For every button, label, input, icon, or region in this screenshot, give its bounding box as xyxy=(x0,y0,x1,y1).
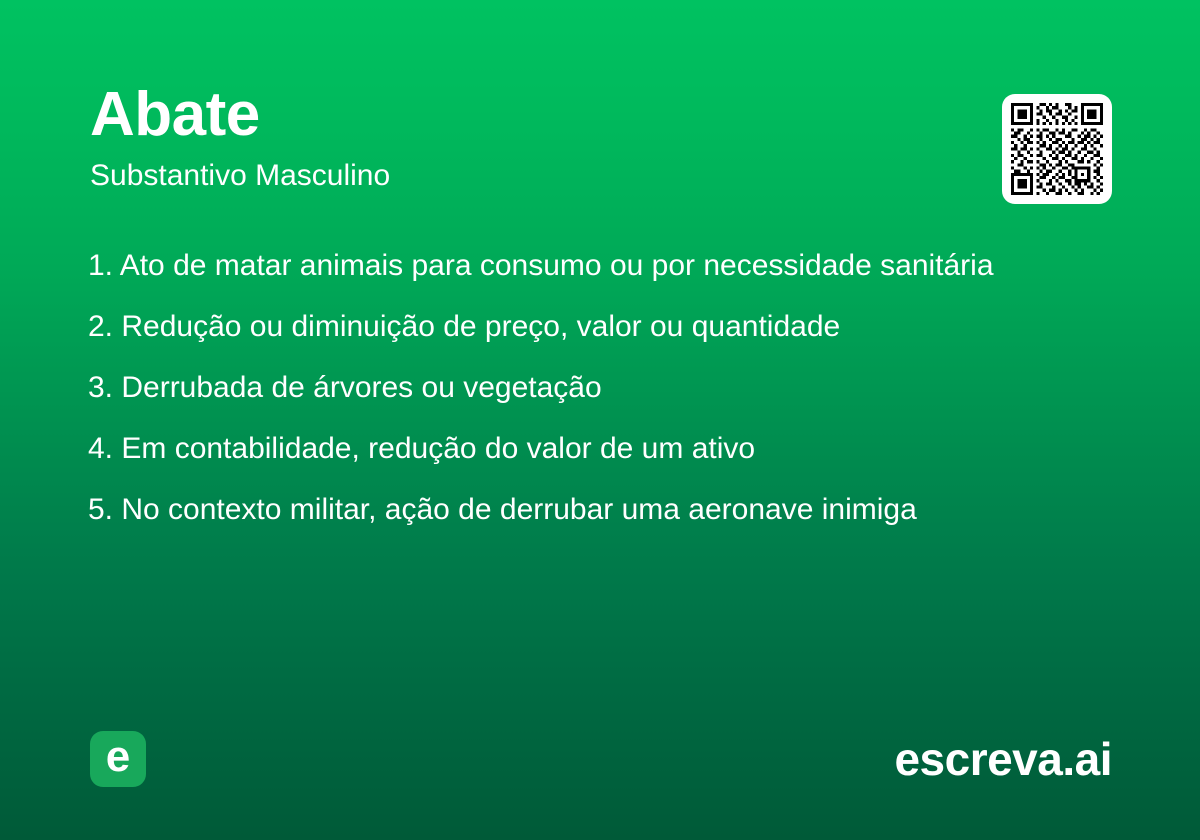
qr-code-card[interactable] xyxy=(1002,94,1112,204)
escreva-logo-icon[interactable]: e xyxy=(90,731,146,787)
definition-item: 1. Ato de matar animais para consumo ou … xyxy=(88,246,1120,285)
word-class-label: Substantivo Masculino xyxy=(90,160,1110,192)
definition-list: 1. Ato de matar animais para consumo ou … xyxy=(88,246,1120,529)
logo-letter: e xyxy=(106,735,130,779)
card-header: Abate Substantivo Masculino xyxy=(90,84,1110,192)
definition-item: 5. No contexto militar, ação de derrubar… xyxy=(88,490,1120,529)
page-title: Abate xyxy=(90,84,1110,146)
definition-item: 3. Derrubada de árvores ou vegetação xyxy=(88,368,1120,407)
definition-card: Abate Substantivo Masculino xyxy=(0,0,1200,840)
brand-wordmark: escreva.ai xyxy=(894,736,1112,782)
definition-item: 2. Redução ou diminuição de preço, valor… xyxy=(88,307,1120,346)
qr-code-icon xyxy=(1011,103,1103,195)
card-footer: e escreva.ai xyxy=(90,728,1112,790)
definition-item: 4. Em contabilidade, redução do valor de… xyxy=(88,429,1120,468)
